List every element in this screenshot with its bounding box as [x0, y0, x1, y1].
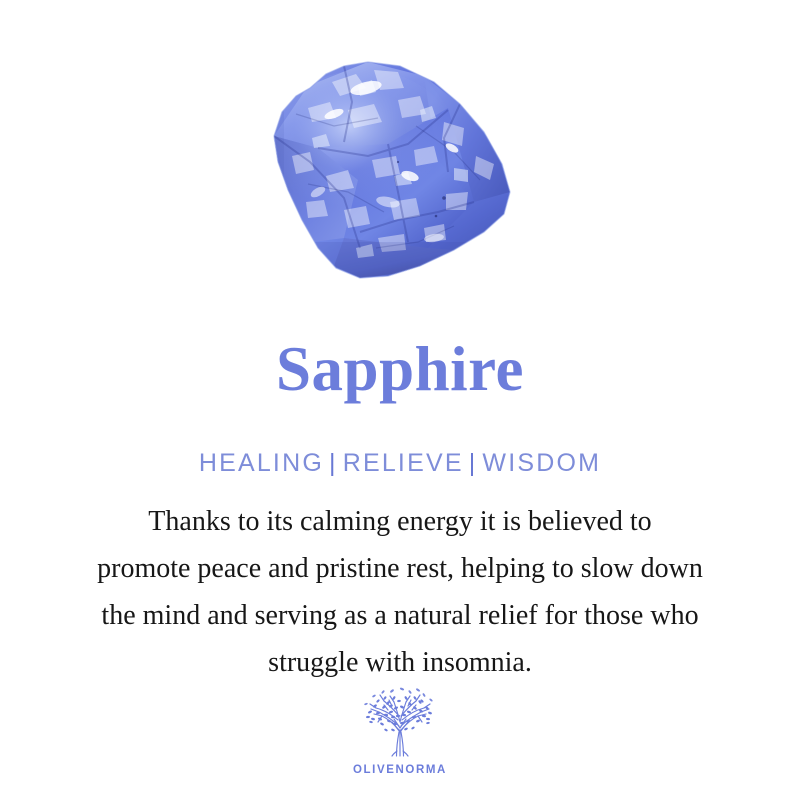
keyword-relieve: RELIEVE: [343, 449, 464, 477]
hero-image-area: [0, 0, 800, 320]
brand-wordmark: OLIVENORMA: [353, 764, 447, 776]
keyword-separator-1: |: [324, 449, 343, 477]
description-paragraph: Thanks to its calming energy it is belie…: [28, 498, 772, 686]
keyword-separator-2: |: [464, 449, 483, 477]
keyword-healing: HEALING: [199, 449, 324, 477]
description-line: Thanks to its calming energy it is belie…: [28, 498, 772, 545]
page-title: Sapphire: [0, 333, 800, 405]
description-line: the mind and serving as a natural relief…: [28, 592, 772, 639]
description-line: struggle with insomnia.: [28, 639, 772, 686]
keyword-list: HEALING|RELIEVE|WISDOM: [0, 448, 800, 478]
keyword-wisdom: WISDOM: [482, 449, 601, 477]
rough-sapphire-crystal-image: [248, 52, 520, 288]
gemstone-info-card: Sapphire HEALING|RELIEVE|WISDOM Thanks t…: [0, 0, 800, 800]
description-line: promote peace and pristine rest, helping…: [28, 545, 772, 592]
brand-logo: OLIVENORMA: [0, 686, 800, 776]
olive-tree-icon: [358, 686, 442, 762]
stone-body: [248, 52, 520, 288]
